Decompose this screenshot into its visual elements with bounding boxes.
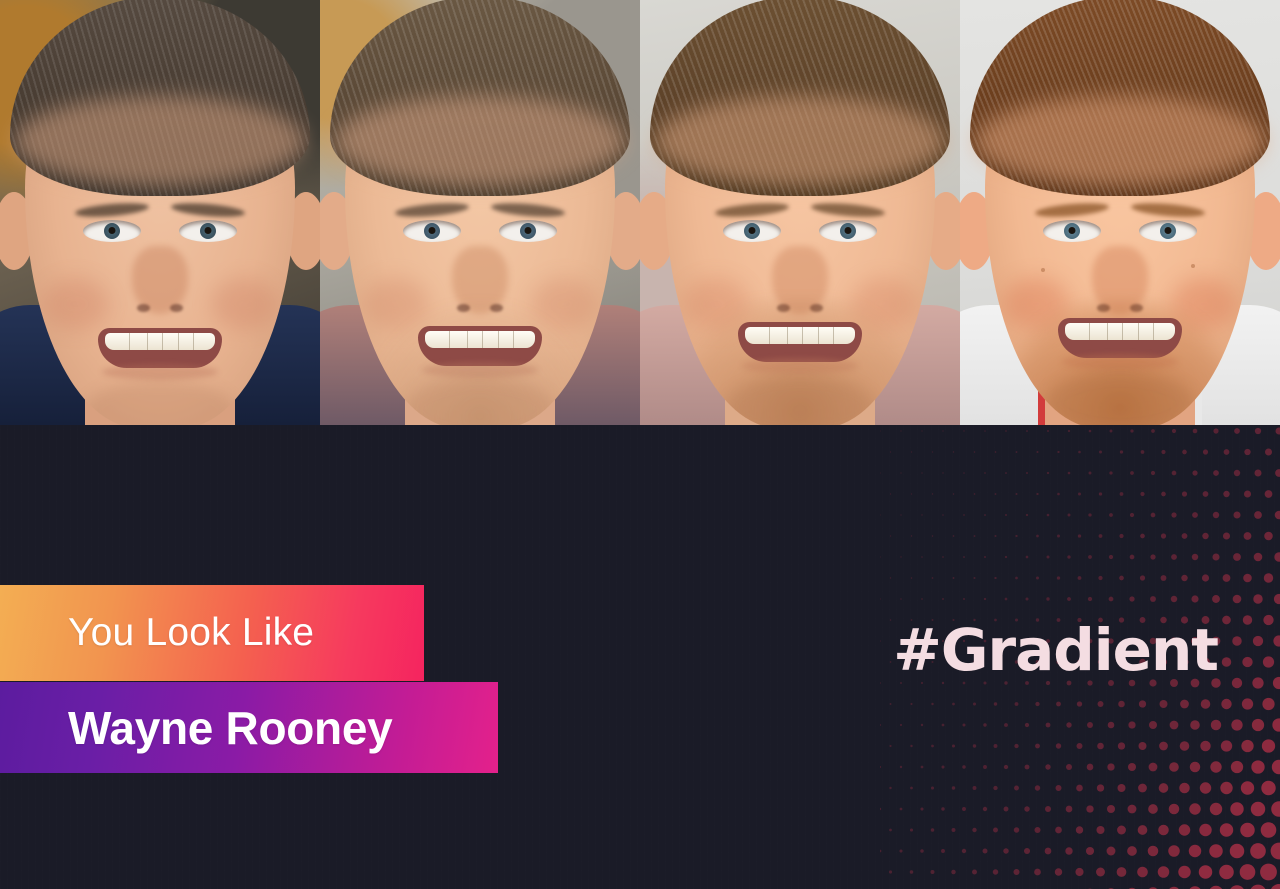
result-card-screenshot: You Look Like Wayne Rooney #Gradient [0, 0, 1280, 889]
cheek-right [211, 278, 277, 330]
hairline-shadow [334, 96, 626, 186]
eye-right [179, 220, 237, 242]
eye-right [499, 220, 557, 242]
eyebrow-left [1035, 201, 1110, 219]
eye-right [1139, 220, 1197, 242]
morph-panel-4[interactable] [960, 0, 1280, 425]
teeth [1065, 323, 1175, 340]
headline-text: You Look Like [0, 611, 314, 655]
headline-banner: You Look Like [0, 585, 424, 681]
nostril-left [137, 304, 150, 312]
eyebrow-right [171, 201, 246, 219]
eye-left [83, 220, 141, 242]
morph-panel-3[interactable] [640, 0, 960, 425]
eye-right [819, 220, 877, 242]
face-morph-strip [0, 0, 1280, 425]
eye-left [723, 220, 781, 242]
eyebrow-left [715, 201, 790, 219]
chin-shadow [85, 380, 235, 425]
chin-shadow [1045, 372, 1195, 425]
lower-lip [1062, 354, 1178, 370]
eyebrow-left [395, 201, 470, 219]
hairline-shadow [654, 96, 946, 186]
mouth [738, 322, 862, 362]
eyebrow-right [491, 201, 566, 219]
teeth [105, 333, 215, 350]
teeth [425, 331, 535, 348]
name-banner: Wayne Rooney [0, 682, 498, 773]
hairline-shadow [14, 96, 306, 186]
lower-lip [102, 364, 218, 380]
eye-left [1043, 220, 1101, 242]
mouth [1058, 318, 1182, 358]
eyebrow-right [811, 201, 886, 219]
lower-lip [422, 362, 538, 378]
eyebrow-right [1131, 201, 1206, 219]
eye-left [403, 220, 461, 242]
morph-panel-2[interactable] [320, 0, 640, 425]
eyebrow-left [75, 201, 150, 219]
hairline-shadow [974, 96, 1266, 186]
hashtag-watermark: #Gradient [893, 616, 1218, 684]
lower-lip [742, 358, 858, 374]
morph-panel-1[interactable] [0, 0, 320, 425]
mouth [418, 326, 542, 366]
celebrity-name-text: Wayne Rooney [0, 701, 392, 755]
teeth [745, 327, 855, 344]
cheek-left [43, 278, 109, 330]
nostril-right [170, 304, 183, 312]
mouth [98, 328, 222, 368]
